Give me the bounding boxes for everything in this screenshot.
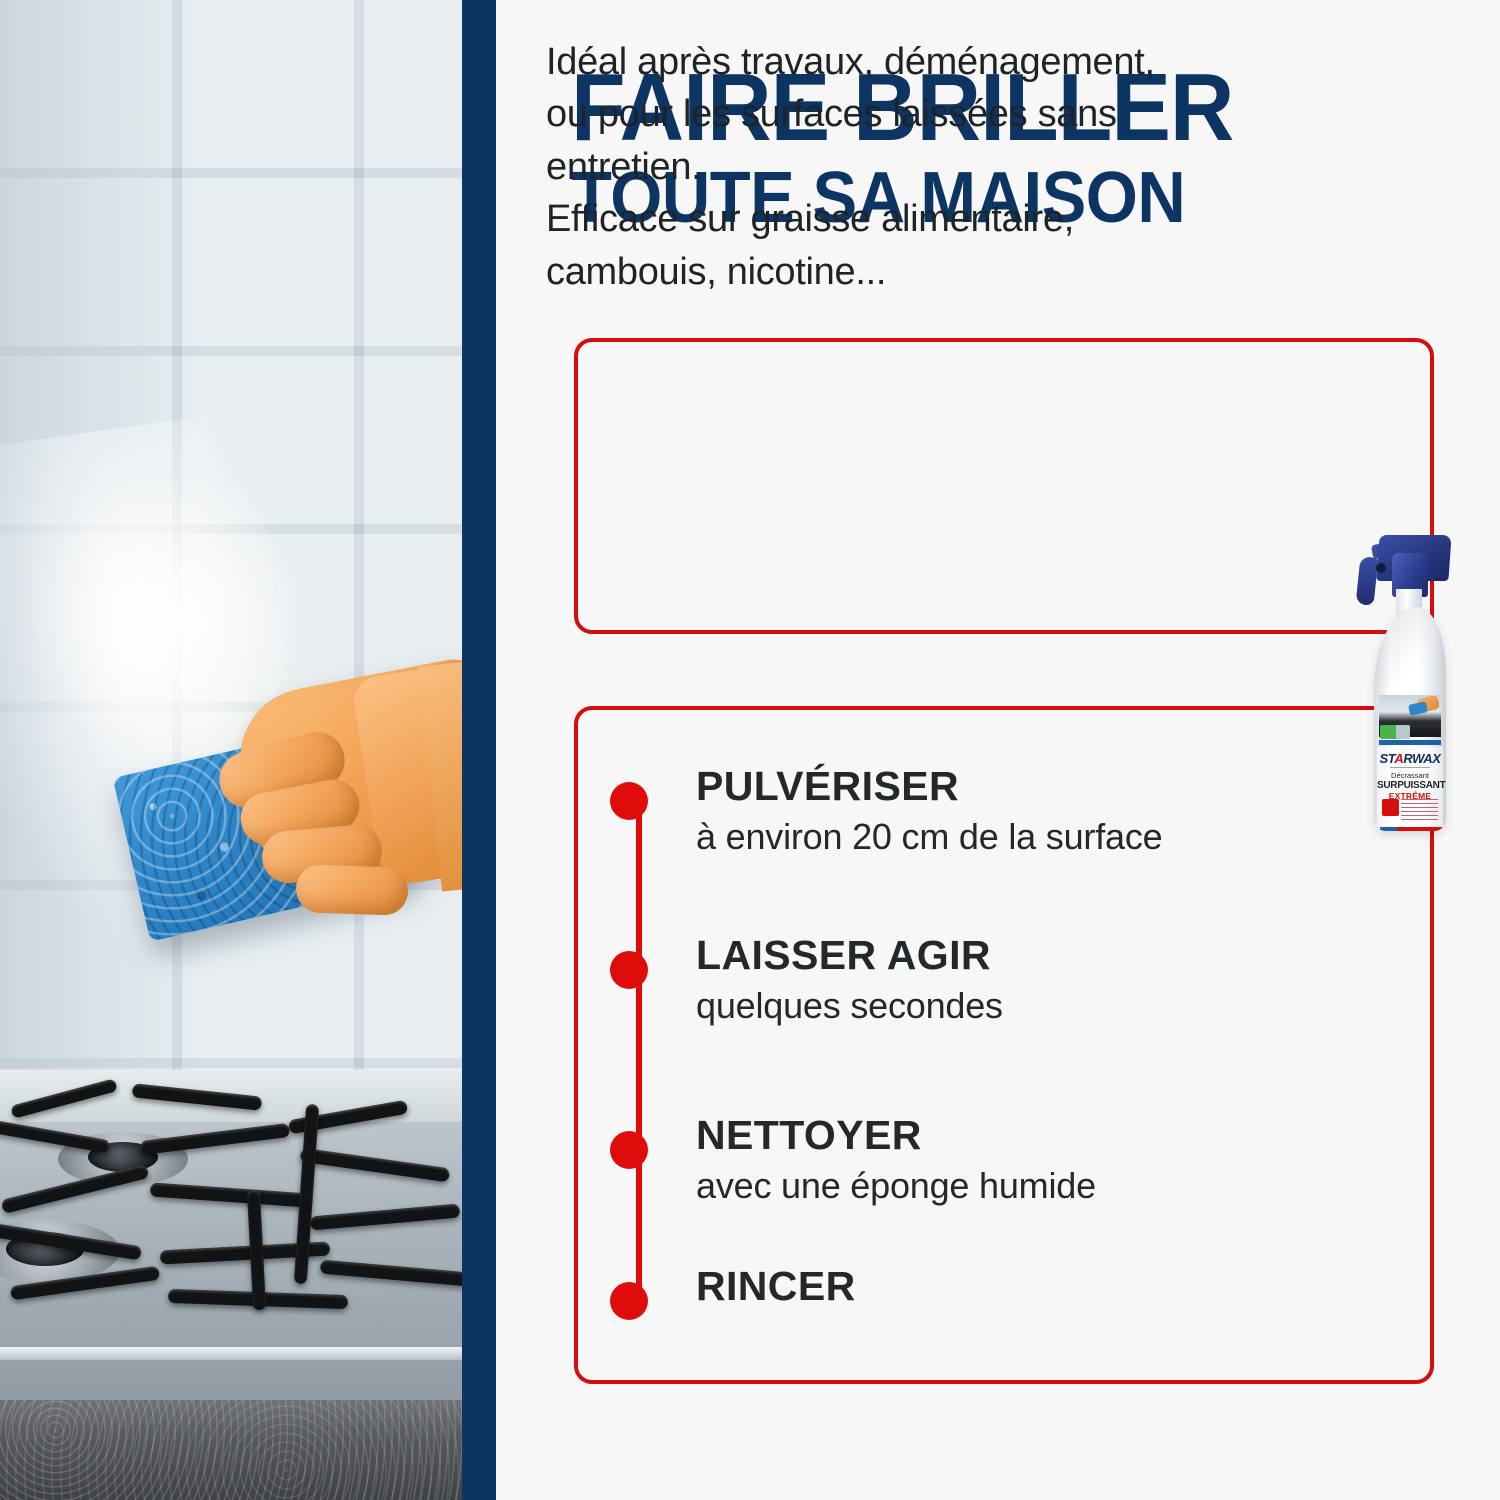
description-card xyxy=(574,338,1434,634)
product-line-2: SURPUISSANT xyxy=(1377,781,1443,791)
brand-pre: ST xyxy=(1379,751,1394,766)
description-text: Idéal après travaux, déménagement, ou po… xyxy=(546,36,1316,298)
stove-grate xyxy=(320,1259,462,1286)
step-body: RINCER xyxy=(696,1264,1376,1314)
stove-grate xyxy=(140,1123,291,1155)
navy-divider-bar xyxy=(462,0,496,1500)
label-pictograms xyxy=(1382,799,1438,821)
brand-rule xyxy=(1390,767,1430,768)
product-line-1: Décrassant xyxy=(1377,772,1443,780)
step-title: PULVÉRISER xyxy=(696,764,1376,810)
granite-countertop xyxy=(0,1400,462,1500)
stove-grate xyxy=(300,1148,450,1183)
brand-name: STARWAX xyxy=(1377,752,1443,765)
step-dot xyxy=(610,951,648,989)
stove-grate xyxy=(150,1182,311,1207)
step-subtitle: quelques secondes xyxy=(696,983,1376,1030)
step-body: LAISSER AGIR quelques secondes xyxy=(696,933,1376,1030)
stove-edge-rail xyxy=(0,1347,462,1360)
sprayer-pivot xyxy=(1376,563,1386,573)
stove-grate xyxy=(310,1203,461,1230)
step-title: RINCER xyxy=(696,1264,1376,1310)
step-title: NETTOYER xyxy=(696,1113,1376,1159)
label-badge-2 xyxy=(1396,725,1410,739)
brand-post: RWAX xyxy=(1403,751,1440,766)
label-footer-bar xyxy=(1380,827,1446,831)
product-spray-bottle: STARWAX Décrassant SURPUISSANT EXTRÊME xyxy=(1352,533,1456,833)
step-subtitle: à environ 20 cm de la surface xyxy=(696,814,1376,861)
bottle-body: STARWAX Décrassant SURPUISSANT EXTRÊME xyxy=(1374,607,1446,831)
sprayer-trigger xyxy=(1356,556,1379,606)
label-photo-sponge xyxy=(1408,701,1428,716)
label-fine-print xyxy=(1401,799,1438,821)
step-dot xyxy=(610,1131,648,1169)
product-label: STARWAX Décrassant SURPUISSANT EXTRÊME xyxy=(1377,747,1443,831)
brand-star-letter: A xyxy=(1394,751,1403,766)
step-dot xyxy=(610,782,648,820)
glove-finger xyxy=(295,864,409,916)
step-body: PULVÉRISER à environ 20 cm de la surface xyxy=(696,764,1376,861)
infographic-page: FAIRE BRILLER TOUTE SA MAISON Idéal aprè… xyxy=(0,0,1500,1500)
step-body: NETTOYER avec une éponge humide xyxy=(696,1113,1376,1210)
step-title: LAISSER AGIR xyxy=(696,933,1376,979)
hazard-pictogram-icon xyxy=(1382,799,1399,816)
label-blue-bar xyxy=(1379,740,1441,745)
gas-stovetop xyxy=(0,1070,462,1418)
steps-timeline-line xyxy=(636,800,642,1300)
product-usage-photo xyxy=(0,0,462,1500)
step-dot xyxy=(610,1282,648,1320)
step-subtitle: avec une éponge humide xyxy=(696,1163,1376,1210)
bottle-shoulder-shading xyxy=(1374,607,1446,687)
